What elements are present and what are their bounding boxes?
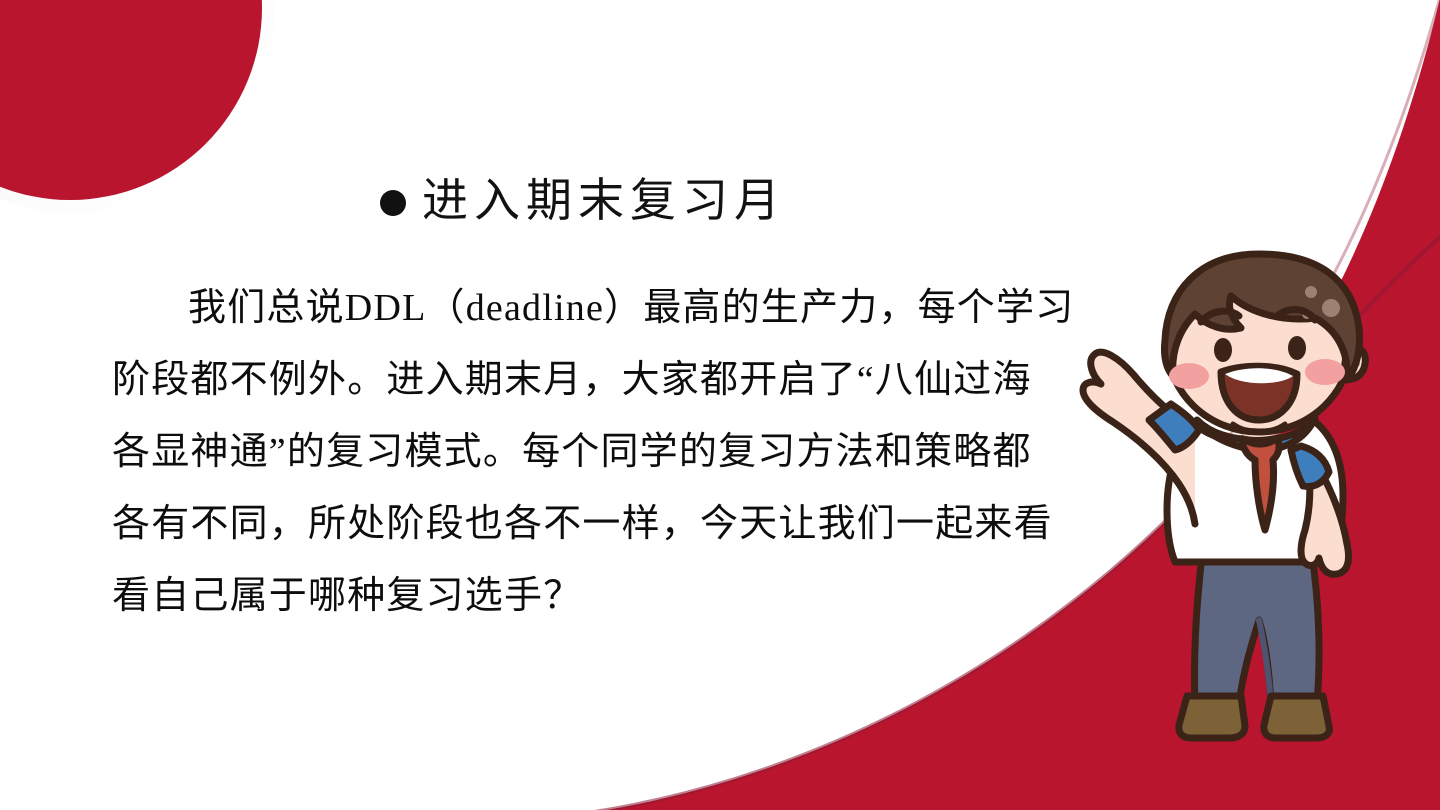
hair-shine-dot — [1305, 286, 1317, 298]
pants — [1194, 548, 1319, 704]
cheek-left — [1169, 363, 1209, 389]
cartoon-schoolboy-waving — [1075, 248, 1440, 768]
cheek-right — [1305, 359, 1345, 385]
slide-canvas: 进入期末复习月 我们总说DDL（deadline）最高的生产力，每个学习 阶段都… — [0, 0, 1440, 810]
page-title: 进入期末复习月 — [380, 176, 786, 227]
page-title-text: 进入期末复习月 — [422, 176, 786, 227]
body-line: 我们总说DDL（deadline）最高的生产力，每个学习 — [112, 272, 1102, 344]
eye-left — [1214, 338, 1232, 362]
shoe-left — [1179, 696, 1245, 738]
eye-right — [1288, 336, 1306, 360]
body-line: 各显神通”的复习模式。每个同学的复习方法和策略都 — [112, 416, 1102, 488]
body-line: 看自己属于哪种复习选手？ — [112, 560, 1102, 632]
body-line: 各有不同，所处阶段也各不一样，今天让我们一起来看 — [112, 488, 1102, 560]
bullet-icon — [380, 190, 406, 216]
body-line: 阶段都不例外。进入期末月，大家都开启了“八仙过海 — [112, 344, 1102, 416]
red-circle — [0, 0, 262, 200]
shoe-right — [1264, 696, 1330, 738]
hair-shine-dot — [1322, 299, 1340, 317]
body-paragraph: 我们总说DDL（deadline）最高的生产力，每个学习 阶段都不例外。进入期末… — [112, 272, 1102, 632]
